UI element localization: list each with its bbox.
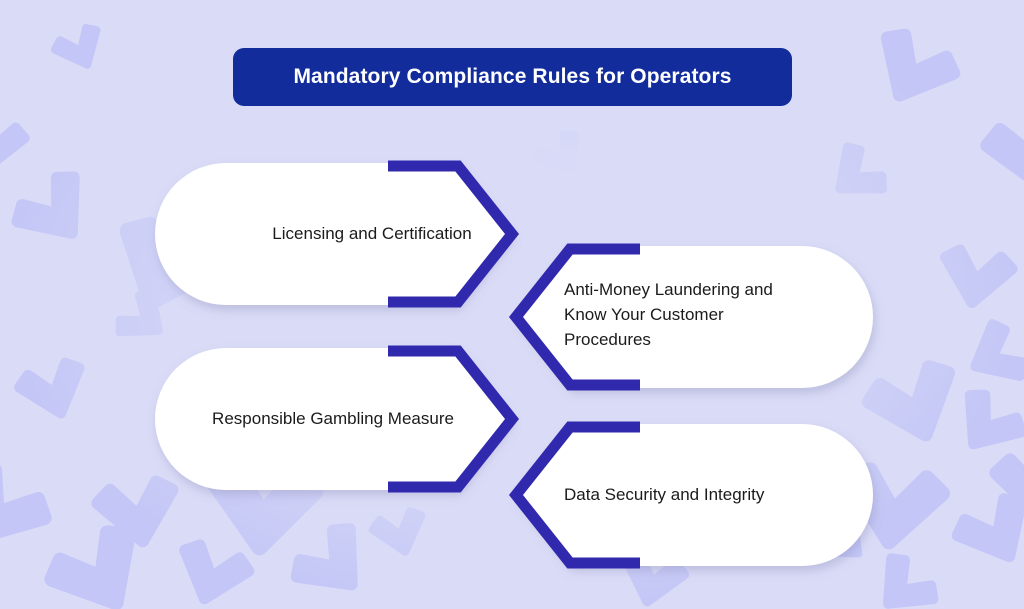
card-label-anti-money-laundering: Anti-Money Laundering and Know Your Cust… [564, 277, 844, 352]
infographic-canvas: Mandatory Compliance Rules for Operators… [0, 0, 1024, 609]
page-title-banner: Mandatory Compliance Rules for Operators [233, 48, 792, 106]
diagram-card-data-security[interactable]: Data Security and Integrity [506, 421, 876, 569]
diagram-card-anti-money-laundering[interactable]: Anti-Money Laundering and Know Your Cust… [506, 243, 876, 391]
page-title: Mandatory Compliance Rules for Operators [293, 65, 731, 89]
card-label-licensing: Licensing and Certification [227, 221, 517, 246]
diagram-card-responsible-gambling[interactable]: Responsible Gambling Measure [152, 345, 520, 493]
diagram-card-licensing[interactable]: Licensing and Certification [152, 160, 520, 308]
card-label-data-security: Data Security and Integrity [564, 482, 854, 507]
card-label-responsible-gambling: Responsible Gambling Measure [188, 406, 478, 431]
